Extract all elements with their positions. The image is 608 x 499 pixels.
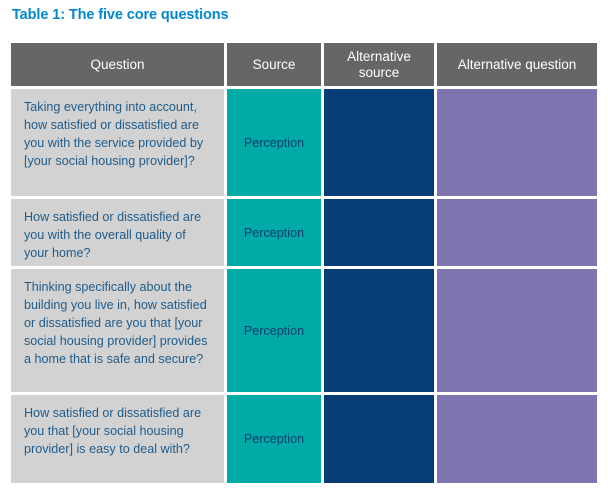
cell-alternative-source — [324, 269, 434, 392]
table-row: How satisfied or dissatisfied are you th… — [11, 395, 597, 483]
column-header-source: Source — [227, 43, 321, 86]
cell-alternative-question — [437, 89, 597, 196]
table-row: Taking everything into account, how sati… — [11, 89, 597, 196]
core-questions-table: Question Source Alternative source Alter… — [11, 43, 597, 483]
cell-alternative-question — [437, 395, 597, 483]
cell-alternative-source — [324, 89, 434, 196]
cell-alternative-source — [324, 395, 434, 483]
table-row: How satisfied or dissatisfied are you wi… — [11, 199, 597, 266]
table-header-row: Question Source Alternative source Alter… — [11, 43, 597, 86]
column-header-alternative-question: Alternative question — [437, 43, 597, 86]
cell-alternative-question — [437, 199, 597, 266]
cell-source: Perception — [227, 199, 321, 266]
cell-question: How satisfied or dissatisfied are you th… — [11, 395, 224, 483]
page-root: Table 1: The five core questions Questio… — [0, 0, 608, 499]
cell-question: How satisfied or dissatisfied are you wi… — [11, 199, 224, 266]
cell-source: Perception — [227, 395, 321, 483]
cell-source: Perception — [227, 89, 321, 196]
cell-alternative-question — [437, 269, 597, 392]
cell-question: Taking everything into account, how sati… — [11, 89, 224, 196]
cell-alternative-source — [324, 199, 434, 266]
column-header-question: Question — [11, 43, 224, 86]
column-header-alternative-source: Alternative source — [324, 43, 434, 86]
cell-source: Perception — [227, 269, 321, 392]
cell-question: Thinking specifically about the building… — [11, 269, 224, 392]
table-row: Thinking specifically about the building… — [11, 269, 597, 392]
table-caption: Table 1: The five core questions — [12, 7, 229, 23]
